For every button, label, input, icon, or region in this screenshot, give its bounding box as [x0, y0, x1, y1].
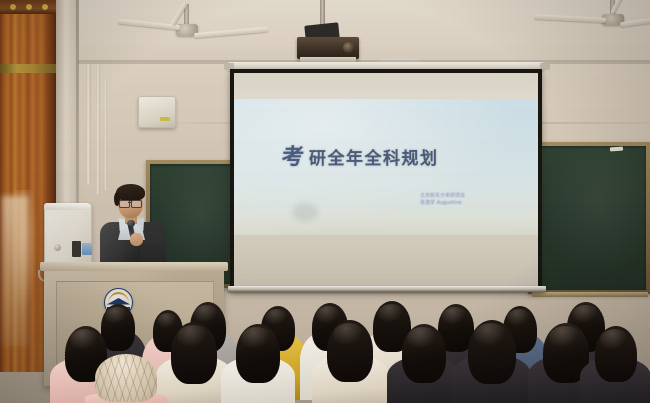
hair-highlight [407, 327, 438, 350]
cabinet-slot [72, 241, 81, 257]
hair-highlight [474, 323, 508, 348]
audience-member [396, 300, 452, 403]
cabinet-label-icon [82, 243, 92, 255]
audience-member-with-cap [95, 300, 157, 403]
hair-highlight [333, 323, 365, 347]
slide-title-rest: 研全年全科规划 [309, 144, 439, 169]
wall-pipe-c [104, 80, 107, 190]
eyeglasses-icon [131, 200, 142, 208]
chalkboard-right [528, 142, 650, 294]
fan-blade [194, 27, 268, 38]
slide-subtitle: 北京新东方考研项目 张浩宇 Augustine [420, 193, 530, 207]
screen-blank-area [234, 235, 538, 286]
presenter-hair [116, 184, 145, 201]
eyeglasses-bridge [128, 202, 132, 203]
audience [0, 300, 650, 403]
hair-highlight [600, 329, 629, 351]
audience-member [462, 300, 522, 403]
lecture-hall-photo: 考 研全年全科规划 北京新东方考研项目 张浩宇 Augustine [0, 0, 650, 403]
slide-title: 考 研全年全科规划 [282, 139, 512, 171]
curtain-stripe [0, 64, 56, 73]
microphone-head-icon [127, 220, 135, 227]
cabinet-top-panel [44, 203, 90, 210]
projector-lens-icon [343, 42, 354, 53]
beige-checked-cap [95, 354, 157, 402]
hair-highlight [549, 326, 581, 349]
curtain-highlight [8, 190, 38, 310]
hair-highlight [177, 325, 209, 349]
projection-screen: 考 研全年全科规划 北京新东方考研项目 张浩宇 Augustine [234, 73, 538, 286]
projection-screen-weight-bar [228, 286, 546, 292]
chalk-tray [532, 292, 648, 297]
fan-blade [620, 18, 650, 28]
slide-subtitle-line-1: 北京新东方考研项目 [420, 193, 530, 200]
slide-title-lead-char: 考 [281, 139, 306, 171]
presenter-hand [130, 233, 143, 246]
curtain-ring [42, 4, 48, 10]
audience-member [165, 300, 223, 403]
indicator-led-icon [160, 117, 170, 121]
audience-member [230, 300, 286, 403]
curtain-ring [26, 4, 32, 10]
projected-slide: 考 研全年全科规划 北京新东方考研项目 张浩宇 Augustine [234, 99, 538, 235]
hair-highlight [241, 327, 272, 350]
slide-smudge [292, 203, 318, 221]
fan-blade [534, 14, 606, 23]
wall-mounted-speaker [138, 96, 176, 128]
curtain-ring [10, 4, 16, 10]
ceiling-fan-right [498, 0, 650, 40]
wall-pipe-b [96, 64, 100, 194]
wall-pipe-a [86, 64, 91, 184]
cabinet-knob [54, 244, 61, 251]
audience-member [321, 300, 379, 403]
chalkboard-surface [532, 146, 646, 290]
slide-subtitle-line-2: 张浩宇 Augustine [420, 200, 530, 207]
audience-member [589, 300, 643, 403]
ceiling-fan-left [148, 4, 268, 44]
projector-downrod [320, 0, 325, 26]
podium-top-surface [40, 262, 228, 271]
